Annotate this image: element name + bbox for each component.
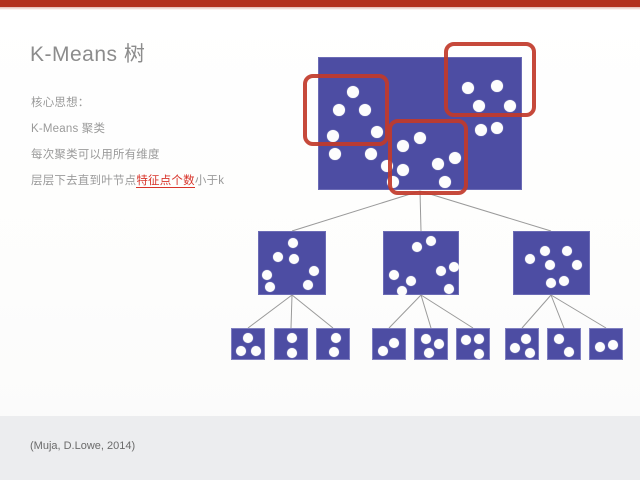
top-accent-bar <box>0 0 640 7</box>
feature-point-dot <box>265 282 275 292</box>
footer-caption: (Muja, D.Lowe, 2014) <box>30 440 135 452</box>
feature-point-dot <box>331 333 341 343</box>
feature-point-dot <box>525 254 535 264</box>
feature-point-dot <box>327 130 339 142</box>
root-node <box>318 57 522 190</box>
feature-point-dot <box>251 346 261 356</box>
feature-point-dot <box>426 236 436 246</box>
feature-point-dot <box>525 348 535 358</box>
feature-point-dot <box>439 176 451 188</box>
feature-point-dot <box>475 124 487 136</box>
body-line-4-tail: 小于k <box>195 175 224 187</box>
feature-point-dot <box>521 334 531 344</box>
tree-edge-level-2 <box>292 295 333 328</box>
leaf-node-7 <box>505 328 539 360</box>
feature-point-dot <box>309 266 319 276</box>
feature-point-dot <box>329 347 339 357</box>
feature-point-dot <box>504 100 516 112</box>
feature-point-dot <box>449 152 461 164</box>
tree-edge-level-2 <box>421 295 431 328</box>
feature-point-dot <box>273 252 283 262</box>
tree-edge-level-1 <box>420 191 551 231</box>
body-text-block: 核心思想： K-Means 聚类 每次聚类可以用所有维度 层层下去直到叶节点特征… <box>31 90 261 194</box>
feature-point-dot <box>595 342 605 352</box>
feature-point-dot <box>572 260 582 270</box>
feature-point-dot <box>474 349 484 359</box>
feature-point-dot <box>371 126 383 138</box>
feature-point-dot <box>365 148 377 160</box>
kmeans-tree-diagram <box>0 0 640 480</box>
feature-point-dot <box>473 100 485 112</box>
feature-point-dot <box>333 104 345 116</box>
body-line-2: K-Means 聚类 <box>31 116 261 142</box>
feature-point-dot <box>540 246 550 256</box>
body-line-4: 层层下去直到叶节点特征点个数小于k <box>31 168 261 194</box>
tree-edges <box>0 0 640 480</box>
feature-point-dot <box>329 148 341 160</box>
feature-point-dot <box>389 338 399 348</box>
cluster-annotation-right <box>444 42 536 117</box>
top-accent-bar-shadow <box>0 7 640 10</box>
feature-point-dot <box>397 164 409 176</box>
feature-point-dot <box>432 158 444 170</box>
feature-point-dot <box>289 254 299 264</box>
leaf-node-4 <box>372 328 406 360</box>
body-line-1-text: 核心思想： <box>31 97 90 109</box>
feature-point-dot <box>243 333 253 343</box>
feature-point-dot <box>608 340 618 350</box>
leaf-node-9 <box>589 328 623 360</box>
feature-point-dot <box>414 132 426 144</box>
body-line-2-text: K-Means 聚类 <box>31 123 105 135</box>
feature-point-dot <box>389 270 399 280</box>
body-line-1: 核心思想： <box>31 90 261 116</box>
tree-edge-level-1 <box>292 191 420 231</box>
tree-edge-level-2 <box>248 295 292 328</box>
body-line-3-text: 每次聚类可以用所有维度 <box>31 149 160 161</box>
feature-point-dot <box>378 346 388 356</box>
feature-point-dot <box>562 246 572 256</box>
feature-point-dot <box>303 280 313 290</box>
feature-point-dot <box>546 278 556 288</box>
leaf-node-2 <box>274 328 308 360</box>
feature-point-dot <box>559 276 569 286</box>
feature-point-dot <box>287 348 297 358</box>
feature-point-dot <box>461 335 471 345</box>
feature-point-dot <box>421 334 431 344</box>
cluster-annotation-left <box>303 74 389 146</box>
tree-edge-level-2 <box>551 295 606 328</box>
leaf-node-6 <box>456 328 490 360</box>
body-line-3: 每次聚类可以用所有维度 <box>31 142 261 168</box>
feature-point-dot <box>287 333 297 343</box>
mid-node-2 <box>383 231 459 295</box>
feature-point-dot <box>288 238 298 248</box>
feature-point-dot <box>510 343 520 353</box>
feature-point-dot <box>406 276 416 286</box>
feature-point-dot <box>381 160 393 172</box>
feature-point-dot <box>347 86 359 98</box>
feature-point-dot <box>491 80 503 92</box>
leaf-node-8 <box>547 328 581 360</box>
leaf-node-1 <box>231 328 265 360</box>
mid-node-3 <box>513 231 590 295</box>
page-title: K-Means 树 <box>30 38 145 68</box>
feature-point-dot <box>554 334 564 344</box>
tree-edge-level-2 <box>291 295 292 328</box>
feature-point-dot <box>412 242 422 252</box>
body-line-4-highlight: 特征点个数 <box>136 175 195 188</box>
leaf-node-5 <box>414 328 448 360</box>
tree-edge-level-2 <box>421 295 473 328</box>
feature-point-dot <box>545 260 555 270</box>
tree-edge-level-2 <box>551 295 564 328</box>
tree-edge-level-2 <box>389 295 421 328</box>
feature-point-dot <box>397 286 407 296</box>
slide-canvas: K-Means 树 核心思想： K-Means 聚类 每次聚类可以用所有维度 层… <box>0 0 640 480</box>
feature-point-dot <box>236 346 246 356</box>
feature-point-dot <box>262 270 272 280</box>
feature-point-dot <box>397 140 409 152</box>
feature-point-dot <box>491 122 503 134</box>
feature-point-dot <box>387 176 399 188</box>
feature-point-dot <box>434 339 444 349</box>
tree-edge-level-1 <box>420 191 421 231</box>
feature-point-dot <box>444 284 454 294</box>
feature-point-dot <box>359 104 371 116</box>
feature-point-dot <box>424 348 434 358</box>
feature-point-dot <box>449 262 459 272</box>
feature-point-dot <box>436 266 446 276</box>
tree-edge-level-2 <box>522 295 551 328</box>
feature-point-dot <box>474 334 484 344</box>
leaf-node-3 <box>316 328 350 360</box>
mid-node-1 <box>258 231 326 295</box>
feature-point-dot <box>462 82 474 94</box>
feature-point-dot <box>564 347 574 357</box>
body-line-4-text: 层层下去直到叶节点 <box>31 175 136 187</box>
cluster-annotation-bottom <box>388 119 468 195</box>
